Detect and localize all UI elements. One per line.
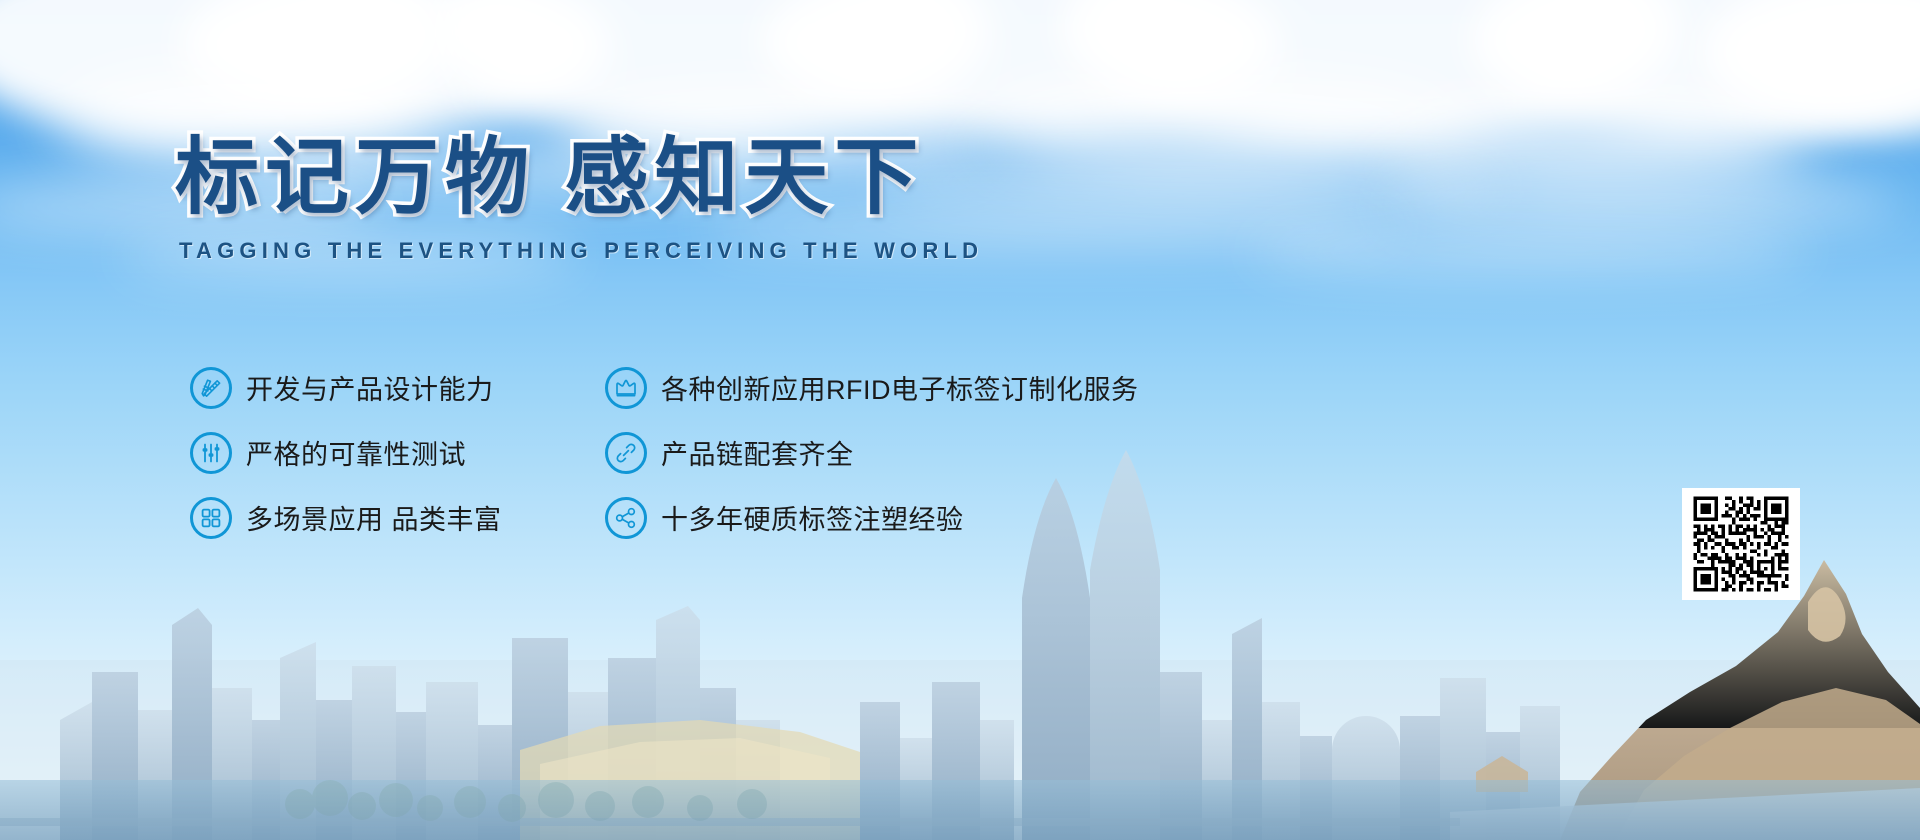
page-subtitle: TAGGING THE EVERYTHING PERCEIVING THE WO… xyxy=(179,238,983,264)
qr-code[interactable] xyxy=(1682,488,1800,600)
grid-squares-icon xyxy=(190,497,232,539)
feature-label: 产品链配套齐全 xyxy=(661,433,854,472)
sliders-icon xyxy=(190,432,232,474)
feature-label: 开发与产品设计能力 xyxy=(246,368,494,407)
feature-list: 开发与产品设计能力 各种创新应用RFID电子标签订制化服务 严格的可靠性 xyxy=(190,355,1139,550)
page-title: 标记万物 感知天下 xyxy=(175,130,983,224)
feature-label: 严格的可靠性测试 xyxy=(246,433,466,472)
pencil-ruler-icon xyxy=(190,367,232,409)
feature-label: 十多年硬质标签注塑经验 xyxy=(661,498,964,537)
headline-block: 标记万物 感知天下 TAGGING THE EVERYTHING PERCEIV… xyxy=(175,130,983,264)
feature-label: 各种创新应用RFID电子标签订制化服务 xyxy=(661,368,1139,407)
cloud-shape xyxy=(1250,230,1810,270)
promo-banner: 标记万物 感知天下 TAGGING THE EVERYTHING PERCEIV… xyxy=(0,0,1920,840)
feature-item-reliability-test: 严格的可靠性测试 xyxy=(190,432,605,474)
qr-code-image xyxy=(1687,493,1795,595)
feature-item-product-chain: 产品链配套齐全 xyxy=(605,432,1139,474)
feature-label: 多场景应用 品类丰富 xyxy=(246,498,502,537)
waterfront-band xyxy=(0,780,1920,840)
feature-item-rfid-customization: 各种创新应用RFID电子标签订制化服务 xyxy=(605,367,1139,409)
feature-item-multi-scenario: 多场景应用 品类丰富 xyxy=(190,497,605,539)
feature-item-design: 开发与产品设计能力 xyxy=(190,367,605,409)
link-chain-icon xyxy=(605,432,647,474)
cloud-shape xyxy=(1380,175,1900,229)
share-nodes-icon xyxy=(605,497,647,539)
crown-icon xyxy=(605,367,647,409)
feature-item-injection-experience: 十多年硬质标签注塑经验 xyxy=(605,497,1139,539)
